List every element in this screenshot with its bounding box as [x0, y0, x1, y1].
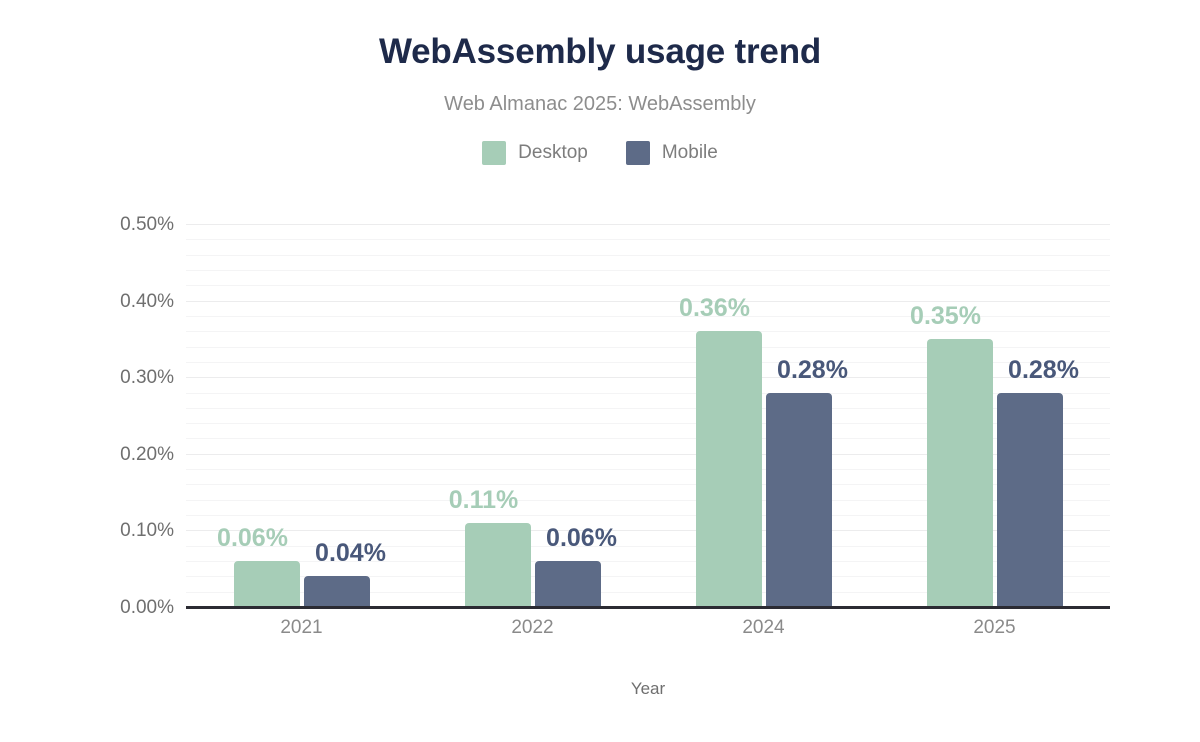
- bar-label-mobile-2024: 0.28%: [753, 355, 873, 385]
- gridline-minor: [186, 331, 1110, 332]
- chart-subtitle: Web Almanac 2025: WebAssembly: [0, 91, 1200, 117]
- chart-container: WebAssembly usage trend Web Almanac 2025…: [0, 0, 1200, 742]
- y-tick-label: 0.20%: [54, 445, 174, 464]
- legend-label: Desktop: [518, 141, 588, 165]
- bar-label-mobile-2022: 0.06%: [522, 523, 642, 553]
- gridline-minor: [186, 255, 1110, 256]
- y-tick-label: 0.00%: [54, 598, 174, 617]
- chart-legend: DesktopMobile: [0, 141, 1200, 165]
- bar-mobile-2022[interactable]: [535, 561, 601, 607]
- x-tick-label: 2024: [704, 616, 824, 640]
- bar-label-desktop-2022: 0.11%: [424, 485, 544, 515]
- gridline-minor: [186, 285, 1110, 286]
- legend-label: Mobile: [662, 141, 718, 165]
- x-tick-label: 2021: [242, 616, 362, 640]
- gridline-minor: [186, 239, 1110, 240]
- legend-item-mobile[interactable]: Mobile: [626, 141, 718, 165]
- x-tick-label: 2025: [935, 616, 1055, 640]
- bar-mobile-2024[interactable]: [766, 393, 832, 607]
- legend-item-desktop[interactable]: Desktop: [482, 141, 588, 165]
- bar-label-mobile-2021: 0.04%: [291, 538, 411, 568]
- bar-label-desktop-2024: 0.36%: [655, 293, 775, 323]
- y-tick-label: 0.50%: [54, 215, 174, 234]
- y-tick-label: 0.40%: [54, 292, 174, 311]
- x-axis-line: [186, 606, 1110, 609]
- x-axis-title: Year: [186, 678, 1110, 700]
- y-tick-label: 0.10%: [54, 521, 174, 540]
- legend-swatch-desktop: [482, 141, 506, 165]
- bar-mobile-2021[interactable]: [304, 576, 370, 607]
- bar-label-mobile-2025: 0.28%: [984, 355, 1104, 385]
- x-tick-label: 2022: [473, 616, 593, 640]
- y-tick-label: 0.30%: [54, 368, 174, 387]
- gridline-major: [186, 224, 1110, 225]
- bar-mobile-2025[interactable]: [997, 393, 1063, 607]
- gridline-minor: [186, 270, 1110, 271]
- chart-title: WebAssembly usage trend: [0, 30, 1200, 74]
- legend-swatch-mobile: [626, 141, 650, 165]
- bar-label-desktop-2025: 0.35%: [886, 301, 1006, 331]
